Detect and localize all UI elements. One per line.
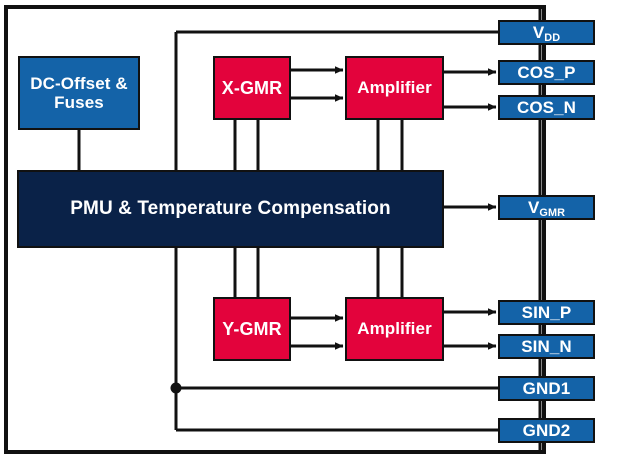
junction-dot-gnd xyxy=(171,383,182,394)
block-y-gmr-label: Y-GMR xyxy=(222,319,282,339)
pin-gnd1[interactable]: GND1 xyxy=(498,376,595,401)
pin-vdd-base: V xyxy=(533,23,544,42)
pin-vgmr-base: V xyxy=(528,198,539,217)
pin-sin-n-label: SIN_N xyxy=(521,337,572,356)
pin-gnd2[interactable]: GND2 xyxy=(498,418,595,443)
pin-cos-p[interactable]: COS_P xyxy=(498,60,595,85)
block-diagram-canvas: DC-Offset & Fuses X-GMR Amplifier PMU & … xyxy=(0,0,625,460)
pin-sin-p[interactable]: SIN_P xyxy=(498,300,595,325)
block-x-gmr[interactable]: X-GMR xyxy=(213,56,291,120)
block-x-gmr-label: X-GMR xyxy=(222,78,283,98)
block-amplifier-bottom[interactable]: Amplifier xyxy=(345,297,444,361)
dc-offset-line-2: Fuses xyxy=(54,93,104,112)
pin-vgmr[interactable]: VGMR xyxy=(498,195,595,220)
pin-cos-n[interactable]: COS_N xyxy=(498,95,595,120)
pin-gnd1-label: GND1 xyxy=(523,379,571,398)
block-amplifier-bottom-label: Amplifier xyxy=(357,319,432,338)
dc-offset-line-1: DC-Offset & xyxy=(30,74,127,93)
pin-vdd-subscript: DD xyxy=(544,32,560,44)
block-amplifier-top-label: Amplifier xyxy=(357,78,432,97)
block-dc-offset-fuses[interactable]: DC-Offset & Fuses xyxy=(18,56,140,130)
pin-sin-p-label: SIN_P xyxy=(522,303,572,322)
pin-vgmr-label: VGMR xyxy=(528,198,565,217)
block-pmu-label: PMU & Temperature Compensation xyxy=(70,198,390,219)
pin-cos-p-label: COS_P xyxy=(517,63,575,82)
block-amplifier-top[interactable]: Amplifier xyxy=(345,56,444,120)
pin-sin-n[interactable]: SIN_N xyxy=(498,334,595,359)
pin-vdd[interactable]: VDD xyxy=(498,20,595,45)
pin-cos-n-label: COS_N xyxy=(517,98,576,117)
pin-vdd-label: VDD xyxy=(533,23,560,42)
block-dc-offset-fuses-label: DC-Offset & Fuses xyxy=(30,74,127,112)
pin-vgmr-subscript: GMR xyxy=(539,207,565,219)
block-y-gmr[interactable]: Y-GMR xyxy=(213,297,291,361)
block-pmu-temperature-compensation[interactable]: PMU & Temperature Compensation xyxy=(17,170,444,248)
pin-gnd2-label: GND2 xyxy=(523,421,571,440)
